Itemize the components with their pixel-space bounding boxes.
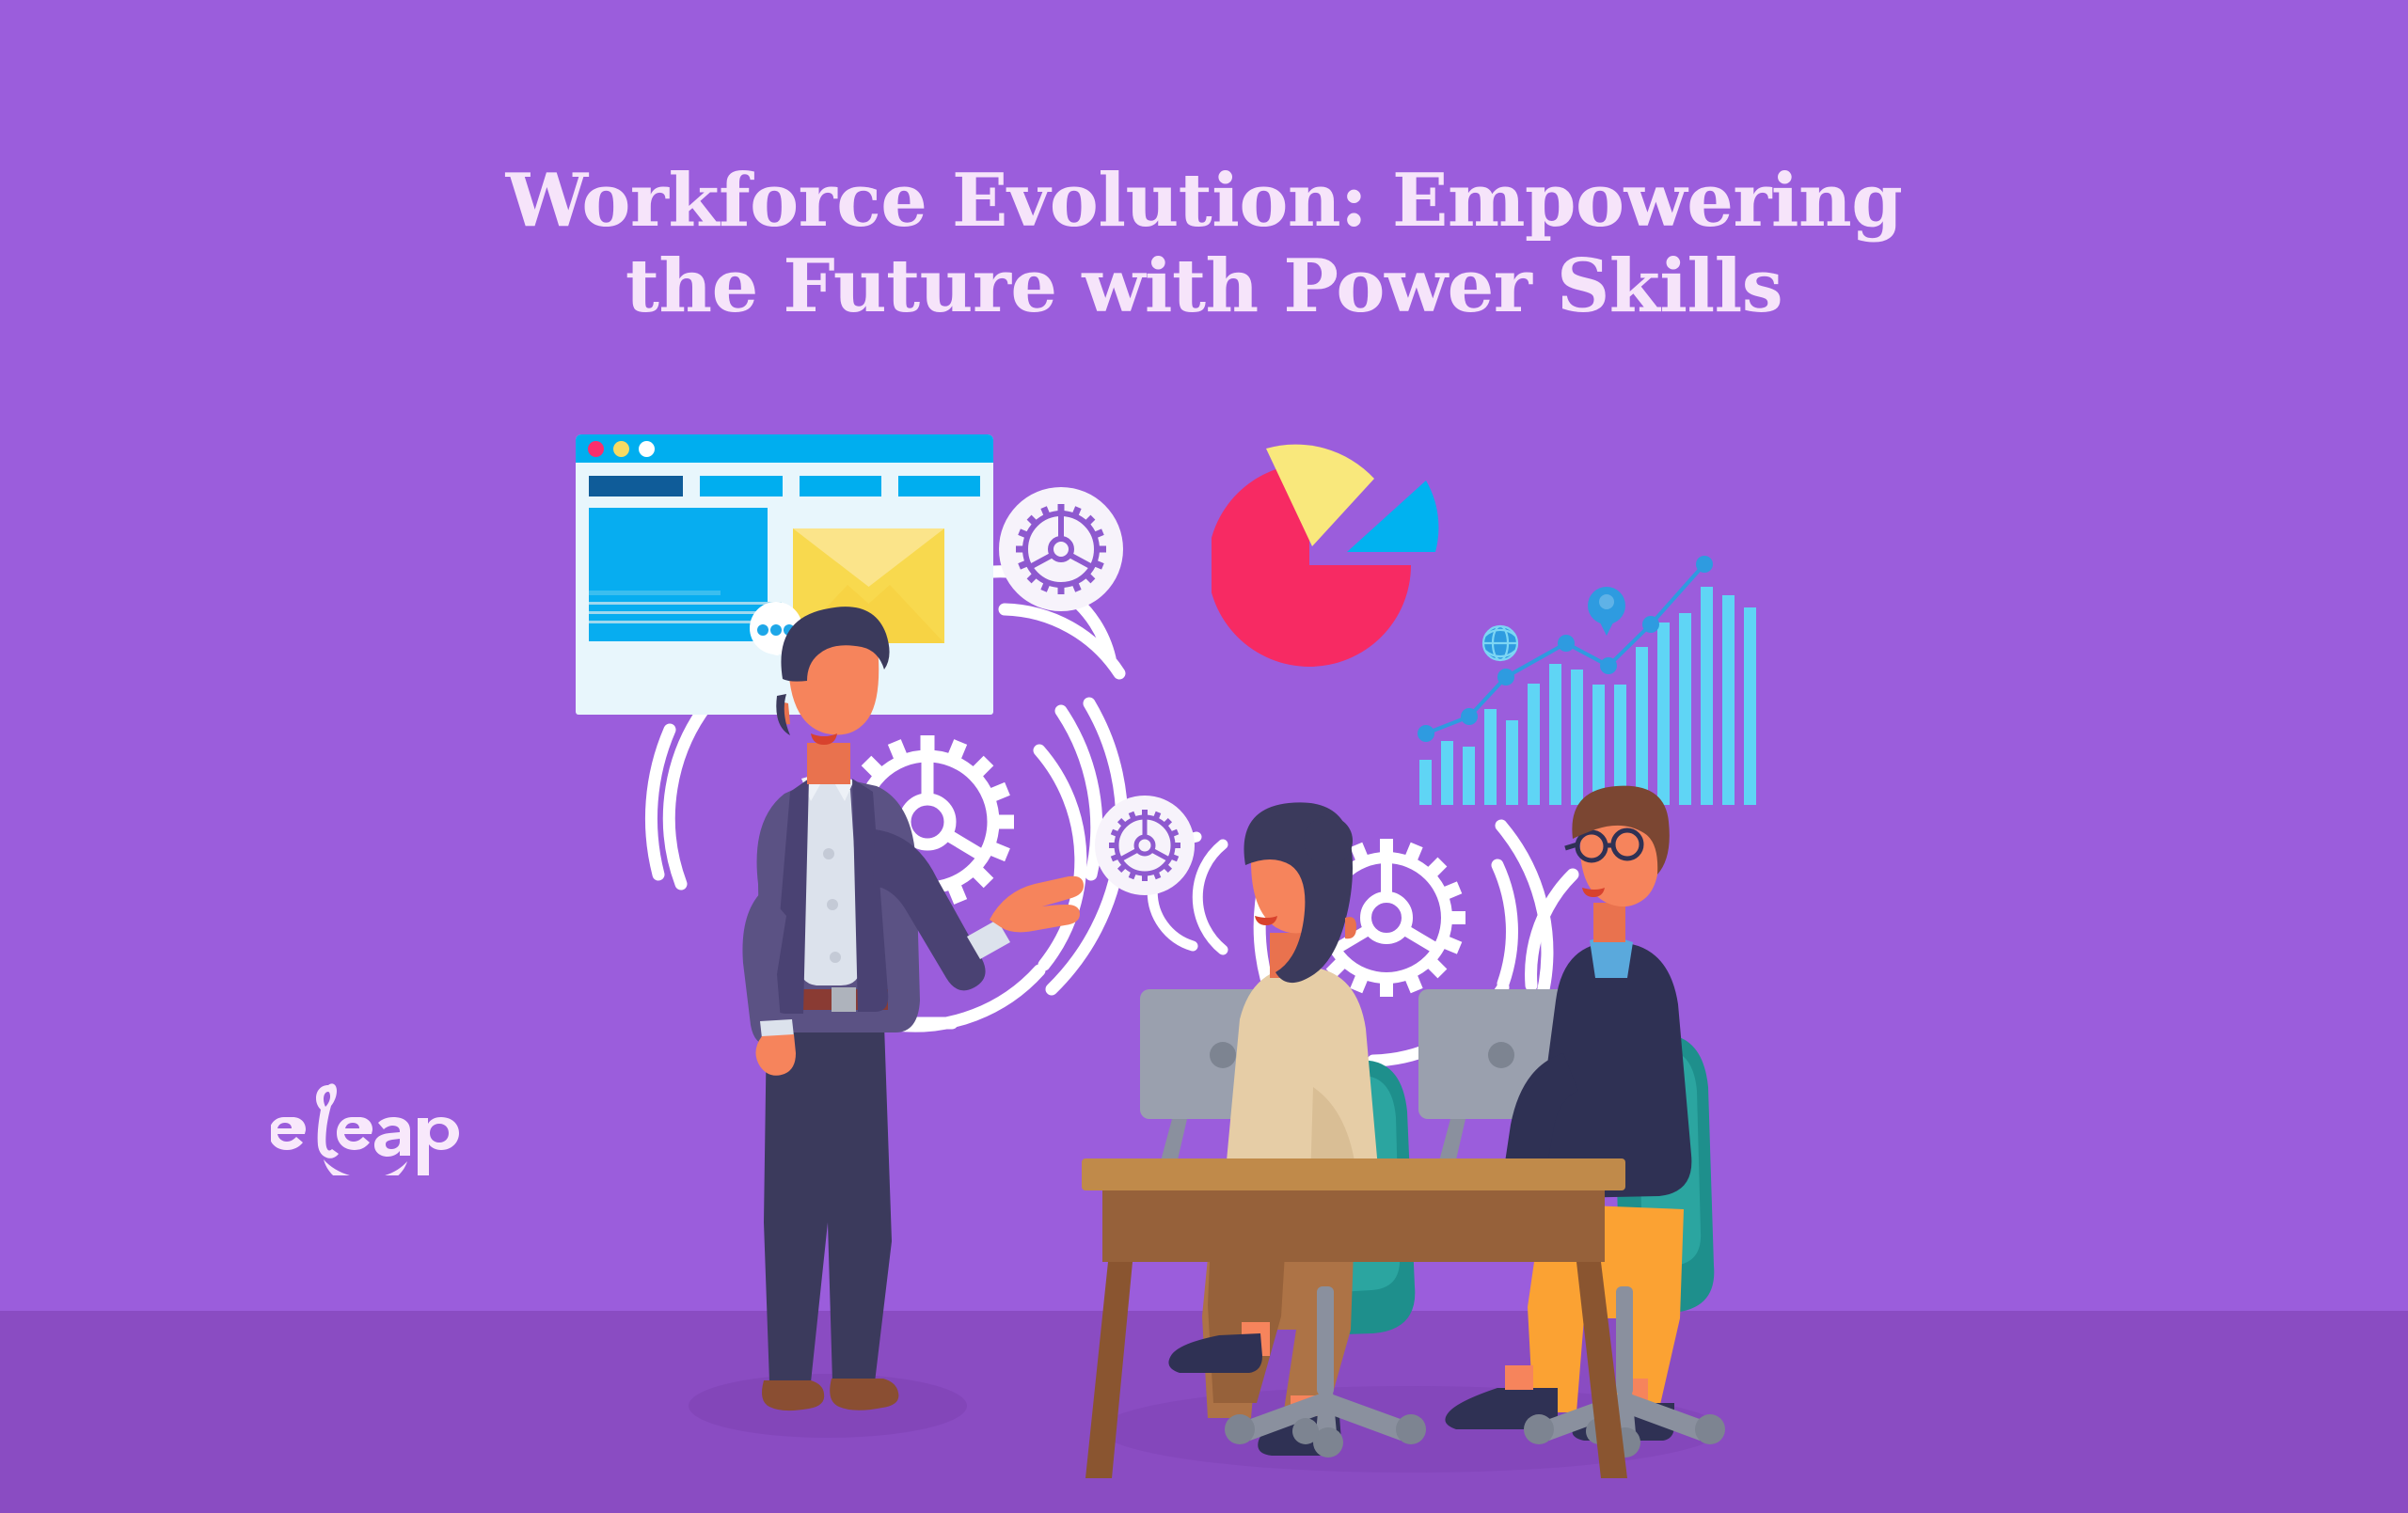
presenter-shoe-left [762, 1380, 824, 1411]
seated-woman-ear [1345, 917, 1356, 938]
presenter-trousers [764, 1025, 892, 1382]
presenter-shirt-button-1 [823, 848, 834, 859]
presenter-shirt-button-3 [830, 952, 841, 963]
standing-presenter [742, 607, 1084, 1411]
seated-woman [1168, 802, 1415, 1456]
presenter-neck [807, 743, 850, 784]
presenter-shirt-button-2 [827, 899, 838, 910]
seated-woman-hair-bun [1304, 816, 1353, 865]
presenter-belt-buckle [832, 987, 856, 1012]
seated-man-neck [1593, 903, 1625, 942]
illustration-scene [0, 0, 2408, 1513]
desk-apron [1102, 1190, 1605, 1262]
presenter-hand-left [755, 1034, 796, 1076]
poster-canvas: Workforce Evolution: Empowering the Futu… [0, 0, 2408, 1513]
presenter-shoe-right [830, 1379, 898, 1411]
desk-top [1082, 1158, 1625, 1190]
shadow-presenter [689, 1374, 967, 1438]
presenter-hand-right [990, 876, 1084, 933]
seated-woman-shoe-left [1168, 1333, 1262, 1373]
